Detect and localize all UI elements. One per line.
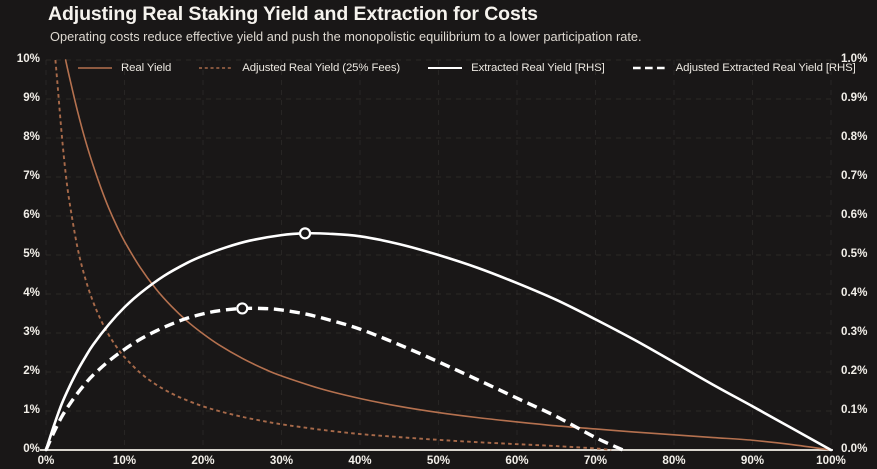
- y-axis-left-tick-label: 10%: [4, 52, 40, 65]
- y-axis-left-tick-label: 0%: [4, 442, 40, 455]
- y-axis-left-tick-label: 4%: [4, 286, 40, 299]
- y-axis-right-tick-label: 0.6%: [841, 208, 867, 221]
- y-axis-right-tick-label: 0.1%: [841, 403, 867, 416]
- y-axis-right-ticks: 0.0%0.1%0.2%0.3%0.4%0.5%0.6%0.7%0.8%0.9%…: [833, 0, 877, 469]
- y-axis-left-tick-label: 3%: [4, 325, 40, 338]
- y-axis-right-tick-label: 0.9%: [841, 91, 867, 104]
- y-axis-right-tick-label: 0.4%: [841, 286, 867, 299]
- y-axis-right-tick-label: 0.7%: [841, 169, 867, 182]
- y-axis-left-tick-label: 5%: [4, 247, 40, 260]
- y-axis-left-tick-label: 1%: [4, 403, 40, 416]
- y-axis-left-tick-label: 7%: [4, 169, 40, 182]
- y-axis-right-tick-label: 0.8%: [841, 130, 867, 143]
- y-axis-right-tick-label: 1.0%: [841, 52, 867, 65]
- y-axis-right-tick-label: 0.3%: [841, 325, 867, 338]
- y-axis-right-tick-label: 0.5%: [841, 247, 867, 260]
- y-axis-left-tick-label: 2%: [4, 364, 40, 377]
- y-axis-right-tick-label: 0.0%: [841, 442, 867, 455]
- series-line: [46, 308, 623, 450]
- y-axis-left-tick-label: 6%: [4, 208, 40, 221]
- plot-area: [0, 0, 877, 469]
- y-axis-left-ticks: 0%1%2%3%4%5%6%7%8%9%10%: [0, 0, 40, 469]
- peak-marker: [300, 228, 310, 238]
- chart-container: Adjusting Real Staking Yield and Extract…: [0, 0, 877, 469]
- y-axis-right-tick-label: 0.2%: [841, 364, 867, 377]
- y-axis-left-tick-label: 8%: [4, 130, 40, 143]
- peak-marker: [237, 303, 247, 313]
- y-axis-left-tick-label: 9%: [4, 91, 40, 104]
